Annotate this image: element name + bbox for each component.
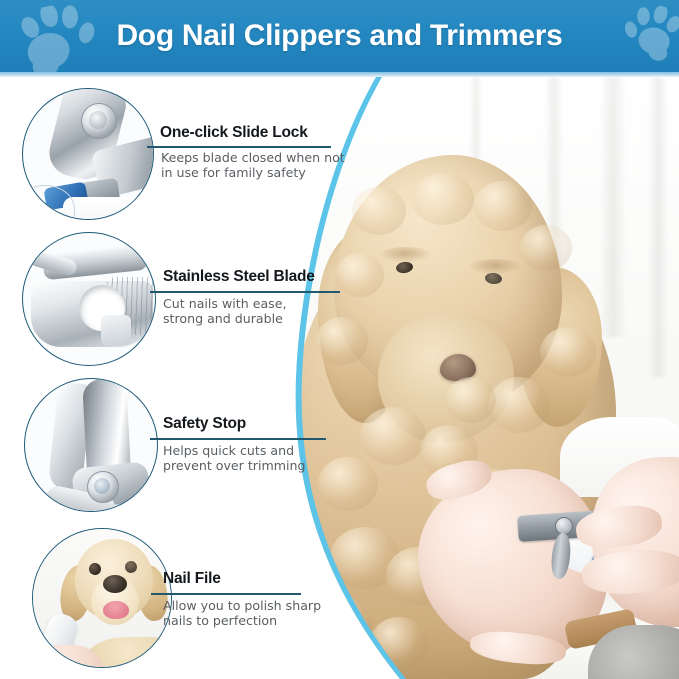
- feature-rule: [151, 593, 301, 595]
- feature-desc-line2: in use for family safety: [161, 165, 351, 180]
- feature-desc-line1: Cut nails with ease,: [163, 296, 353, 311]
- header-banner: Dog Nail Clippers and Trimmers: [0, 0, 679, 72]
- feature-desc-line1: Helps quick cuts and: [163, 443, 353, 458]
- feature-image-slide-lock: [22, 88, 154, 220]
- feature-image-nail-file: [32, 528, 172, 668]
- feature-desc-line2: nails to perfection: [163, 613, 353, 628]
- feature-image-steel-blade: [22, 232, 156, 366]
- feature-desc-line2: prevent over trimming: [163, 458, 353, 473]
- feature-title: Safety Stop: [163, 415, 246, 433]
- feature-title: One-click Slide Lock: [160, 124, 308, 142]
- feature-desc-line1: Keeps blade closed when not: [161, 150, 351, 165]
- feature-desc-line2: strong and durable: [163, 311, 353, 326]
- feature-desc-line1: Allow you to polish sharp: [163, 598, 353, 613]
- feature-title: Stainless Steel Blade: [163, 268, 315, 286]
- feature-rule: [150, 438, 326, 440]
- feature-rule: [150, 291, 340, 293]
- page-title: Dog Nail Clippers and Trimmers: [0, 0, 679, 72]
- feature-image-safety-stop: [24, 378, 158, 512]
- feature-title: Nail File: [163, 570, 221, 588]
- infographic-canvas: Dog Nail Clippers and Trimmers: [0, 0, 679, 679]
- feature-rule: [147, 146, 331, 148]
